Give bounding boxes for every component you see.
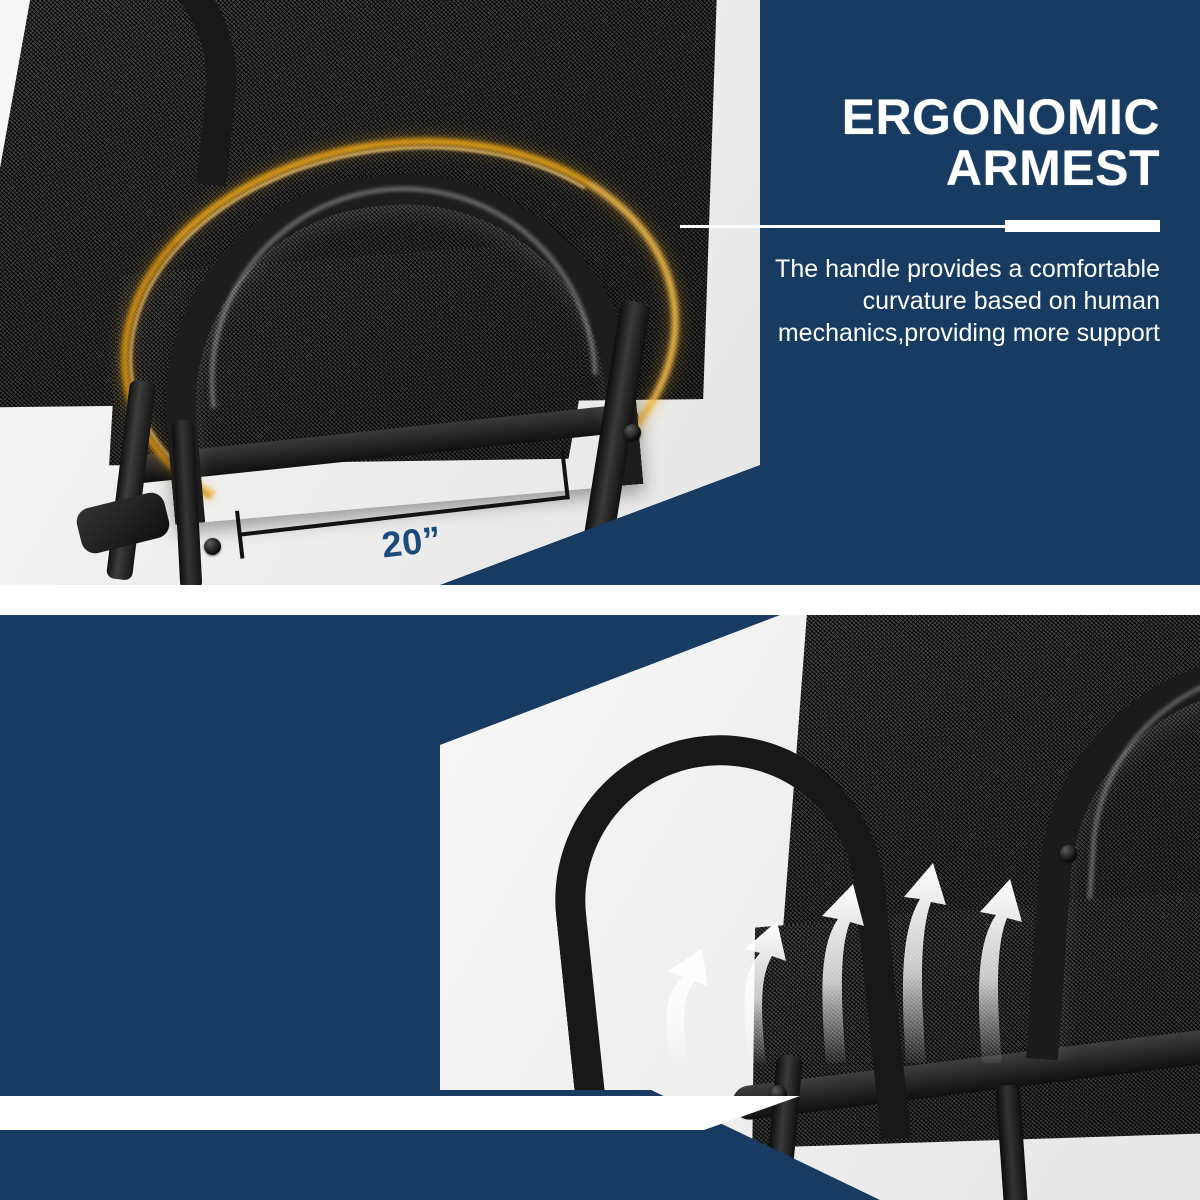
body-copy: The handle provides a comfortable curvat… [680,254,1160,349]
headline-divider [680,220,1160,232]
white-accent-stripe [0,1096,800,1130]
airflow-arrow [979,879,1022,1063]
text-block-ergonomic-armrest: ERGONOMIC ARMEST The handle provides a c… [680,92,1160,349]
chair-bolt-icon [624,424,641,441]
airflow-arrow [666,949,708,1063]
chair-foot-cap [74,490,172,556]
airflow-arrow [903,863,946,1063]
airflow-arrow [822,884,864,1063]
divider-thick-segment [1005,220,1160,232]
airflow-arrows-group [620,805,1040,1065]
panel-great-breathability: GREAT BREATHABILITY Tesla fabric has hig… [0,615,1200,1200]
chair-bolt-icon [204,538,221,555]
airflow-arrow [744,921,786,1063]
dimension-tick-right [560,451,569,499]
chair-bolt-icon [1060,845,1077,862]
product-infographic: 20” ERGONOMIC ARMEST The handle provides… [0,0,1200,1200]
dimension-label: 20” [380,518,444,566]
navy-corner-wedge [440,615,780,745]
headline-line-2: ARMEST [680,143,1160,194]
panel-ergonomic-armrest: 20” ERGONOMIC ARMEST The handle provides… [0,0,1200,585]
chair-armrest-arch-secondary [0,0,252,187]
headline-line-1: ERGONOMIC [680,92,1160,143]
photo-chair-armrest-closeup: 20” [0,0,760,585]
